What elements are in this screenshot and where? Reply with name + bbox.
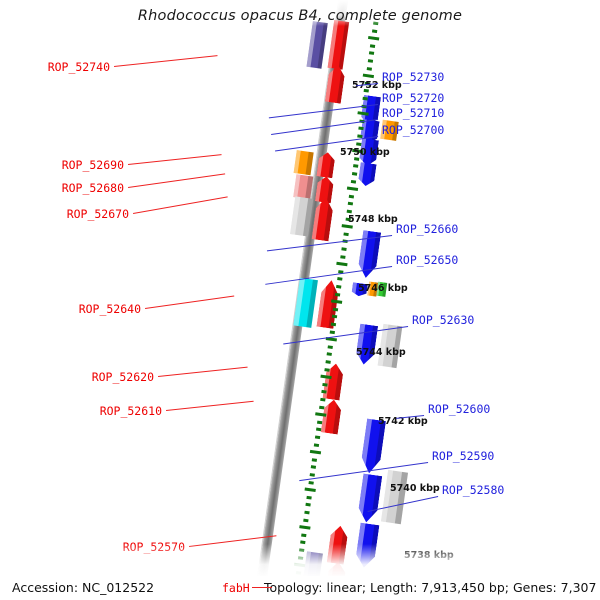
- leader-line: [269, 104, 378, 118]
- leader-line: [189, 535, 276, 547]
- gene-label-rop_52730[interactable]: ROP_52730: [382, 70, 444, 84]
- ruler-label: 5740 kbp: [390, 483, 440, 494]
- ruler-label: 5746 kbp: [358, 283, 408, 294]
- gene-label-rop_52630[interactable]: ROP_52630: [412, 313, 474, 327]
- leader-line: [145, 295, 234, 309]
- gene-label-rop_52590[interactable]: ROP_52590: [432, 449, 494, 463]
- gene-label-rop_52620[interactable]: ROP_52620: [82, 370, 154, 384]
- leader-line: [368, 496, 439, 512]
- gene-label-rop_52680[interactable]: ROP_52680: [52, 181, 124, 195]
- gene-label-rop_52720[interactable]: ROP_52720: [382, 91, 444, 105]
- gene-label-rop_52690[interactable]: ROP_52690: [52, 158, 124, 172]
- gene-label-rop_52740[interactable]: ROP_52740: [38, 60, 110, 74]
- leader-line: [133, 196, 228, 214]
- leader-line: [128, 173, 225, 188]
- gene-label-rop_52710[interactable]: ROP_52710: [382, 106, 444, 120]
- gene-label-rop_52570[interactable]: ROP_52570: [113, 540, 185, 554]
- gene-label-rop_52660[interactable]: ROP_52660: [396, 222, 458, 236]
- footer-bar: Accession: NC_012522 fabH Topology: line…: [0, 576, 600, 600]
- leader-line: [128, 154, 222, 165]
- gene-label-rop_52600[interactable]: ROP_52600: [428, 402, 490, 416]
- leader-line: [299, 462, 428, 481]
- leader-line: [271, 119, 378, 135]
- genome-viewer: Rhodococcus opacus B4, complete genome 5…: [0, 0, 600, 600]
- gene-label-rop_52640[interactable]: ROP_52640: [69, 302, 141, 316]
- gene-label-rop_52670[interactable]: ROP_52670: [57, 207, 129, 221]
- gene-label-rop_52610[interactable]: ROP_52610: [90, 404, 162, 418]
- leader-line: [158, 367, 248, 377]
- leader-line: [114, 55, 218, 67]
- ruler-label: 5750 kbp: [340, 147, 390, 158]
- gene-label-rop_52580[interactable]: ROP_52580: [442, 483, 504, 497]
- page-title: Rhodococcus opacus B4, complete genome: [0, 8, 600, 24]
- ruler-label: 5744 kbp: [356, 347, 406, 358]
- leader-line: [166, 401, 254, 411]
- ruler-label: 5738 kbp: [404, 550, 454, 561]
- fabh-leader-line: [252, 587, 272, 588]
- gene-label-fabh[interactable]: fabH: [222, 581, 250, 595]
- accession-text: Accession: NC_012522: [12, 580, 154, 595]
- leader-line: [265, 266, 392, 285]
- topology-text: Topology: linear; Length: 7,913,450 bp; …: [264, 580, 596, 595]
- gene-label-rop_52650[interactable]: ROP_52650: [396, 253, 458, 267]
- leader-line: [267, 235, 392, 251]
- gene-label-rop_52700[interactable]: ROP_52700: [382, 123, 444, 137]
- leader-line: [283, 326, 408, 345]
- label-layer: 5752 kbp5750 kbp5748 kbp5746 kbp5744 kbp…: [0, 0, 600, 600]
- ruler-label: 5748 kbp: [348, 214, 398, 225]
